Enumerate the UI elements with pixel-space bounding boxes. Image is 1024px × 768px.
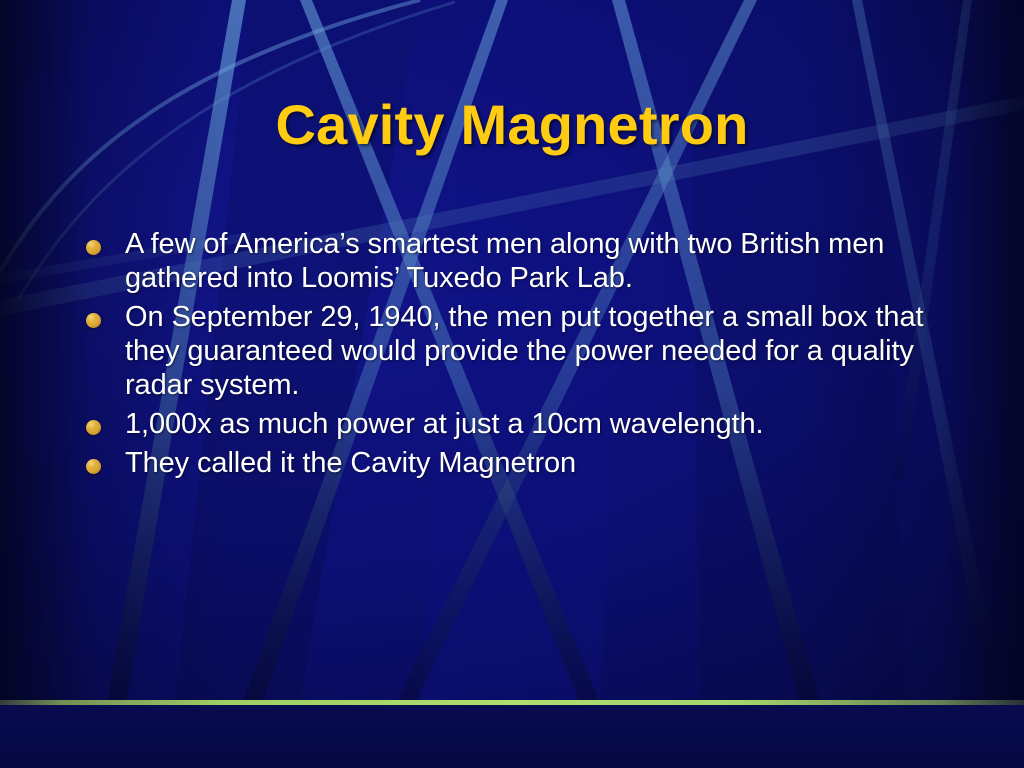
list-item-label: 1,000x as much power at just a 10cm wave… (125, 408, 966, 442)
list-item: A few of America’s smartest men along wi… (86, 228, 966, 296)
list-item-label: On September 29, 1940, the men put toget… (125, 301, 966, 403)
accent-divider-rule (0, 700, 1024, 705)
list-item: They called it the Cavity Magnetron (86, 447, 966, 481)
list-item: 1,000x as much power at just a 10cm wave… (86, 408, 966, 442)
list-item-label: They called it the Cavity Magnetron (125, 447, 966, 481)
slide-title: Cavity Magnetron (0, 96, 1024, 155)
list-item-label: A few of America’s smartest men along wi… (125, 228, 966, 296)
list-item: On September 29, 1940, the men put toget… (86, 301, 966, 403)
gold-sphere-bullet-icon (86, 459, 101, 474)
slide-body-bullet-list: A few of America’s smartest men along wi… (86, 228, 966, 485)
gold-sphere-bullet-icon (86, 313, 101, 328)
slide-footer-band (0, 703, 1024, 768)
presentation-slide: Cavity Magnetron A few of America’s smar… (0, 0, 1024, 768)
gold-sphere-bullet-icon (86, 420, 101, 435)
gold-sphere-bullet-icon (86, 240, 101, 255)
